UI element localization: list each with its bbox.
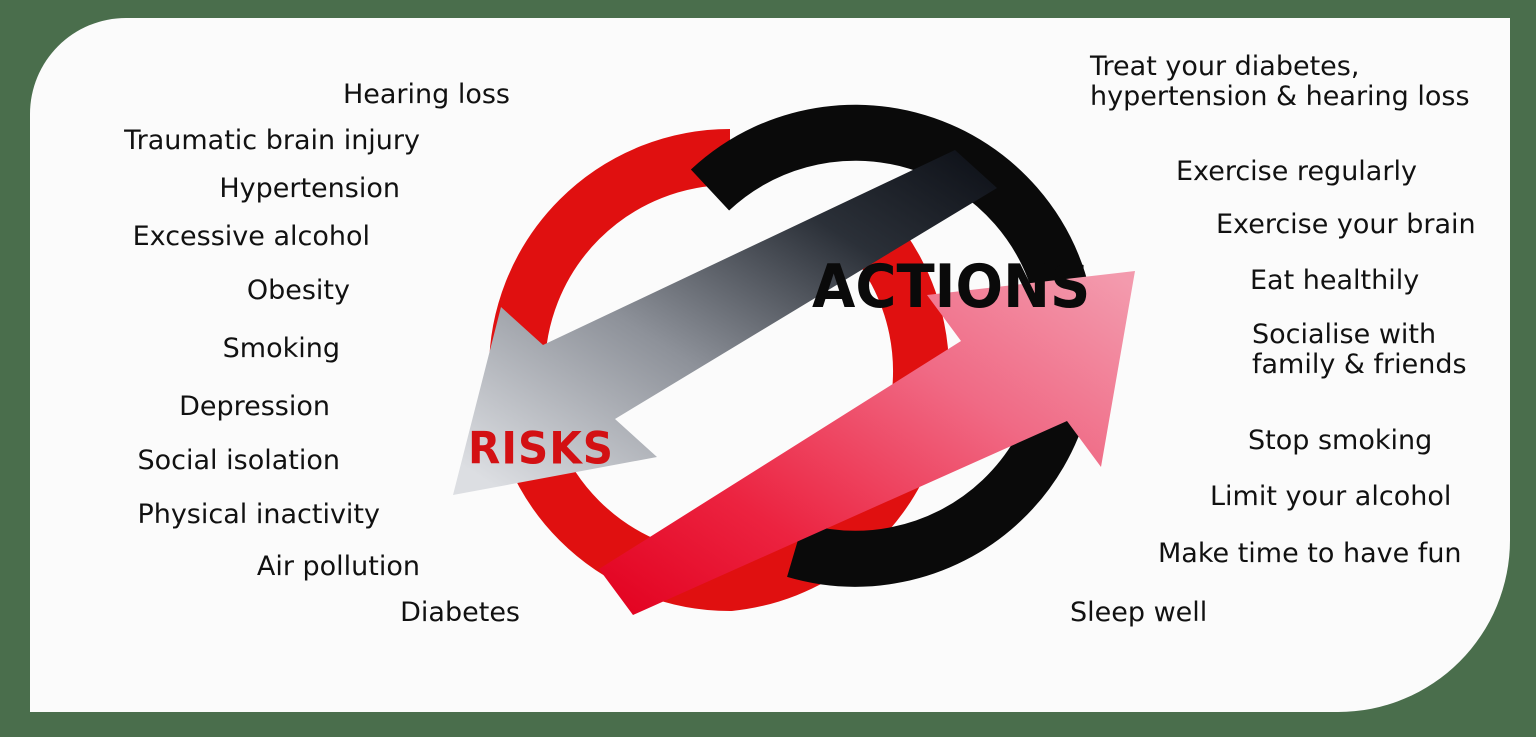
infographic-canvas: RISKS ACTIONS Hearing lossTraumatic brai…: [0, 0, 1536, 737]
risk-item: Obesity: [160, 276, 350, 306]
risk-item: Air pollution: [220, 552, 420, 582]
action-item: Socialise withfamily & friends: [1252, 320, 1512, 380]
risk-item: Hearing loss: [320, 80, 510, 110]
risk-item: Smoking: [140, 334, 340, 364]
action-item: Treat your diabetes,hypertension & heari…: [1090, 52, 1490, 112]
action-item: Make time to have fun: [1158, 539, 1508, 569]
action-item: Stop smoking: [1248, 426, 1498, 456]
action-item: Limit your alcohol: [1210, 482, 1490, 512]
risk-item: Hypertension: [130, 174, 400, 204]
risks-heading: RISKS: [468, 423, 614, 474]
risk-item: Excessive alcohol: [50, 222, 370, 252]
risk-item: Depression: [110, 392, 330, 422]
risk-item: Diabetes: [350, 598, 520, 628]
action-item: Eat healthily: [1250, 266, 1490, 296]
action-item: Sleep well: [1070, 598, 1270, 628]
actions-heading: ACTIONS: [812, 253, 1090, 322]
risk-item: Traumatic brain injury: [90, 126, 420, 156]
risk-item: Social isolation: [80, 446, 340, 476]
risk-item: Physical inactivity: [90, 500, 380, 530]
action-item: Exercise regularly: [1176, 157, 1476, 187]
action-item: Exercise your brain: [1216, 210, 1516, 240]
